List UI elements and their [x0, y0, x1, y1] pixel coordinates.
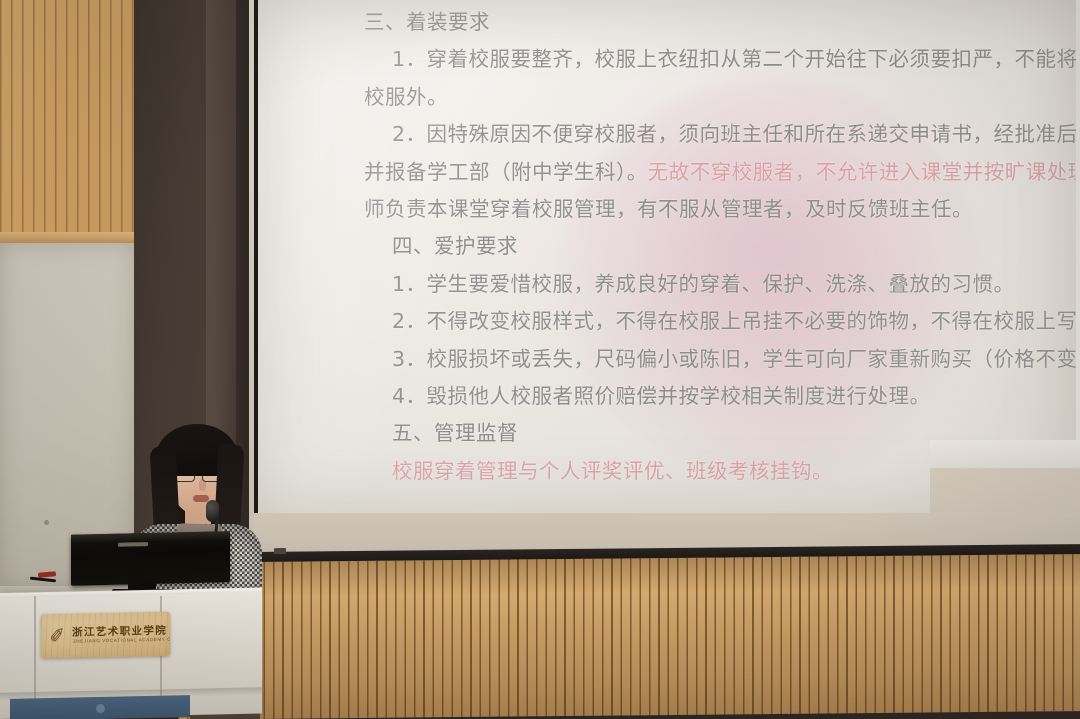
academy-logo-icon: ✐: [50, 625, 69, 649]
podium-knob-icon: [96, 704, 105, 713]
slide-line-3-2-cont2: 师负责本课堂穿着校服管理，有不服从管理者，及时反馈班主任。: [364, 191, 1080, 228]
slide-line-4-4: 4．毁损他人校服者照价赔偿并按学校相关制度进行处理。: [364, 378, 1080, 415]
left-wood-frame-bottom: [0, 232, 146, 243]
slide-line-4-3: 3．校服损坏或丢失，尺码偏小或陈旧，学生可向厂家重新购买（价格不变）。: [364, 341, 1080, 378]
monitor-badge: [274, 548, 286, 554]
monitor-label: [118, 542, 148, 547]
slide-emphasis-red-1: 无故不穿校服者，不允许进入课堂并按旷课处理: [648, 160, 1080, 184]
slide-line-4-1: 1．学生要爱惜校服，养成良好的穿着、保护、洗涤、叠放的习惯。: [364, 266, 1080, 303]
podium-nameplate: ✐ 浙江艺术职业学院 ZHEJIANG VOCATIONAL ACADEMY O…: [41, 612, 170, 659]
projection-screen: 三、着装要求 1．穿着校服要整齐，校服上衣纽扣从第二个开始往下必须要扣严，不能将…: [258, 0, 1080, 513]
podium-seam-left: [34, 596, 36, 700]
microphone-icon: [206, 500, 219, 522]
slide-heading-3: 三、着装要求: [364, 4, 1080, 41]
speaker-mouth: [193, 495, 209, 502]
wood-slat-wall: [254, 554, 1080, 719]
slide-line-3-2: 2．因特殊原因不便穿校服者，须向班主任和所在系递交申请书，经批准后方可不穿，: [364, 116, 1080, 153]
slide-line-3-1: 1．穿着校服要整齐，校服上衣纽扣从第二个开始往下必须要扣严，不能将衬衣领翻出: [364, 41, 1080, 78]
lecture-hall-scene: 三、着装要求 1．穿着校服要整齐，校服上衣纽扣从第二个开始往下必须要扣严，不能将…: [0, 0, 1080, 719]
slide-line-3-1-cont: 校服外。: [364, 79, 1080, 116]
slide-heading-4: 四、爱护要求: [364, 228, 1080, 265]
wall-screw-icon: [44, 520, 49, 525]
wall-upper-right-panel: [930, 440, 1080, 470]
slide-line-4-2: 2．不得改变校服样式，不得在校服上吊挂不必要的饰物，不得在校服上写字或涂画。: [364, 303, 1080, 340]
left-wood-panel: [0, 0, 146, 240]
slide-line-3-2-cont-a: 并报备学工部（附中学生科）。: [364, 160, 648, 184]
slide-text-body: 三、着装要求 1．穿着校服要整齐，校服上衣纽扣从第二个开始往下必须要扣严，不能将…: [258, 0, 1080, 513]
wall-right-strip: [1076, 0, 1080, 480]
slide-line-3-2-cont: 并报备学工部（附中学生科）。无故不穿校服者，不允许进入课堂并按旷课处理。任课教: [364, 154, 1080, 191]
